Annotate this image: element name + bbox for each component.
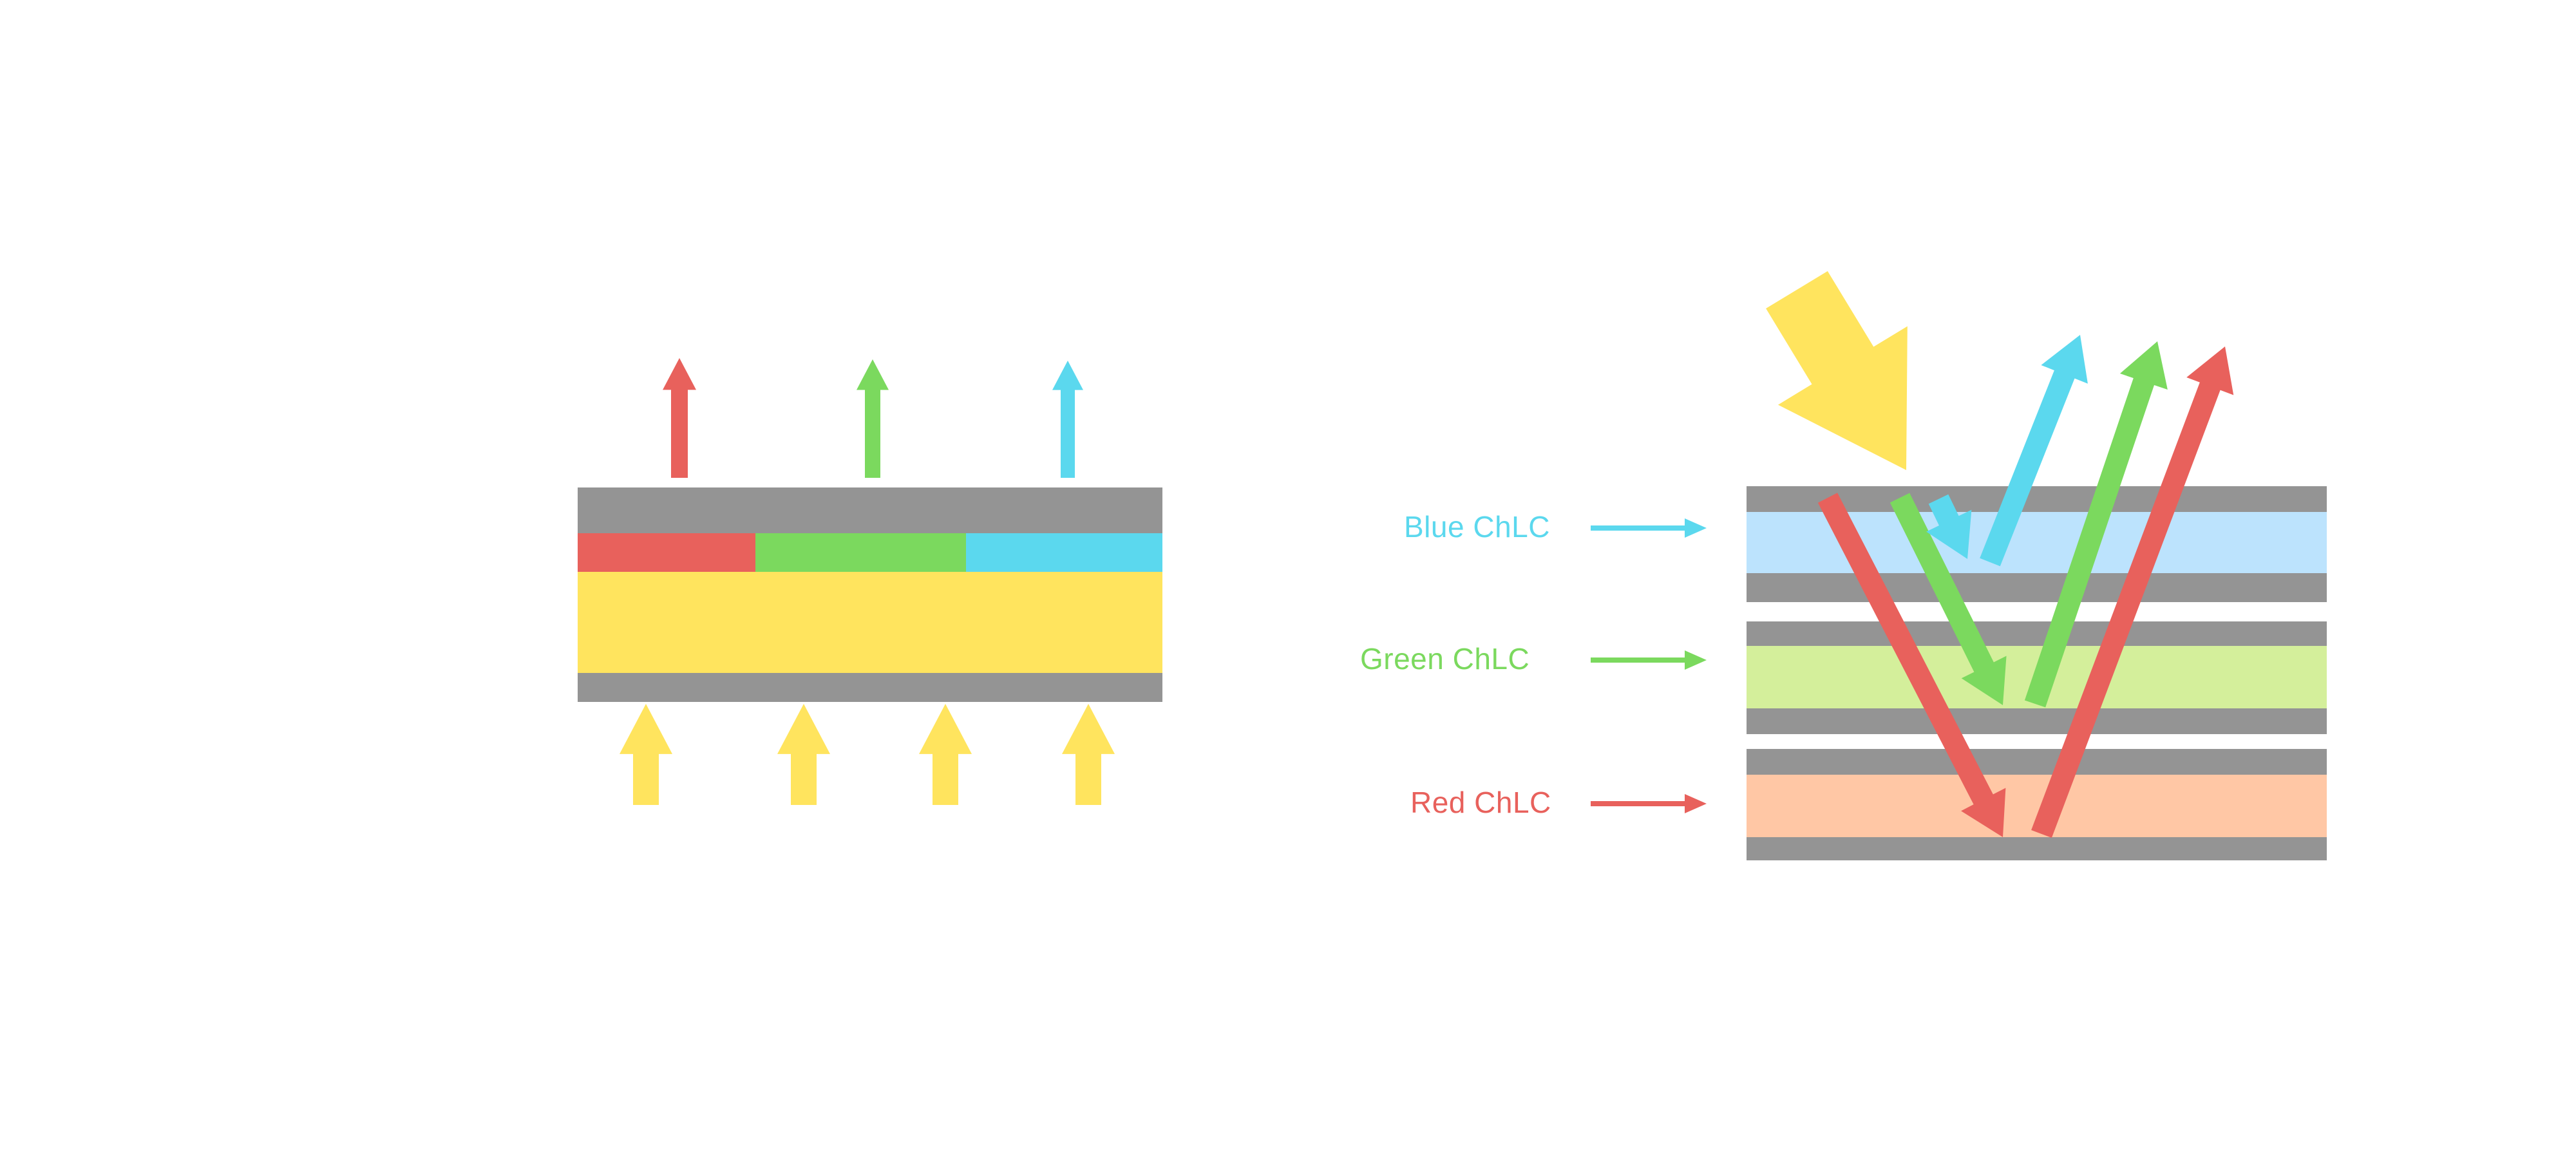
red-cell-bottom-substrate — [1747, 837, 2327, 860]
blue-chlc-label-arrow-icon — [1591, 518, 1707, 538]
right-panel: Blue ChLC Green ChLC Red ChLC — [1360, 271, 2327, 860]
emitted-cyan-arrow — [1052, 361, 1083, 478]
green-cell-bottom-substrate — [1747, 708, 2327, 734]
green-chlc-label-group: Green ChLC — [1360, 642, 1707, 676]
red-cell-top-substrate — [1747, 749, 2327, 775]
backlight-arrow-4 — [1062, 704, 1115, 805]
blue-chlc-label: Blue ChLC — [1404, 510, 1550, 544]
left-emitted-arrows-group — [663, 358, 1083, 478]
optical-stack-diagram: Blue ChLC Green ChLC Red ChLC — [0, 0, 2576, 1154]
left-top-substrate — [578, 487, 1162, 533]
emitted-green-arrow — [857, 359, 889, 478]
emitted-red-arrow — [663, 358, 696, 478]
left-backlight-arrows-group — [620, 704, 1115, 805]
left-bottom-substrate — [578, 673, 1162, 702]
backlight-arrow-2 — [777, 704, 830, 805]
left-stack-group — [578, 487, 1162, 702]
red-chlc-label-group: Red ChLC — [1410, 786, 1707, 819]
green-chlc-label-arrow-icon — [1591, 650, 1707, 670]
left-panel — [578, 358, 1162, 805]
left-emissive-yellow-layer — [578, 572, 1162, 673]
red-chlc-cell — [1747, 749, 2327, 860]
figure-root: Blue ChLC Green ChLC Red ChLC — [0, 0, 2576, 1154]
blue-chlc-label-group: Blue ChLC — [1404, 510, 1707, 544]
right-labels-group: Blue ChLC Green ChLC Red ChLC — [1360, 510, 1707, 819]
blue-cell-bottom-substrate — [1747, 573, 2327, 602]
green-cell-top-substrate — [1747, 621, 2327, 646]
incident-white-light-arrow — [1766, 271, 1908, 470]
left-color-filter-green — [755, 533, 966, 572]
green-chlc-label: Green ChLC — [1360, 642, 1529, 676]
left-color-filter-red — [578, 533, 755, 572]
red-chlc-label: Red ChLC — [1410, 786, 1551, 819]
red-chlc-label-arrow-icon — [1591, 794, 1707, 813]
backlight-arrow-1 — [620, 704, 672, 805]
backlight-arrow-3 — [919, 704, 972, 805]
left-color-filter-cyan — [966, 533, 1162, 572]
